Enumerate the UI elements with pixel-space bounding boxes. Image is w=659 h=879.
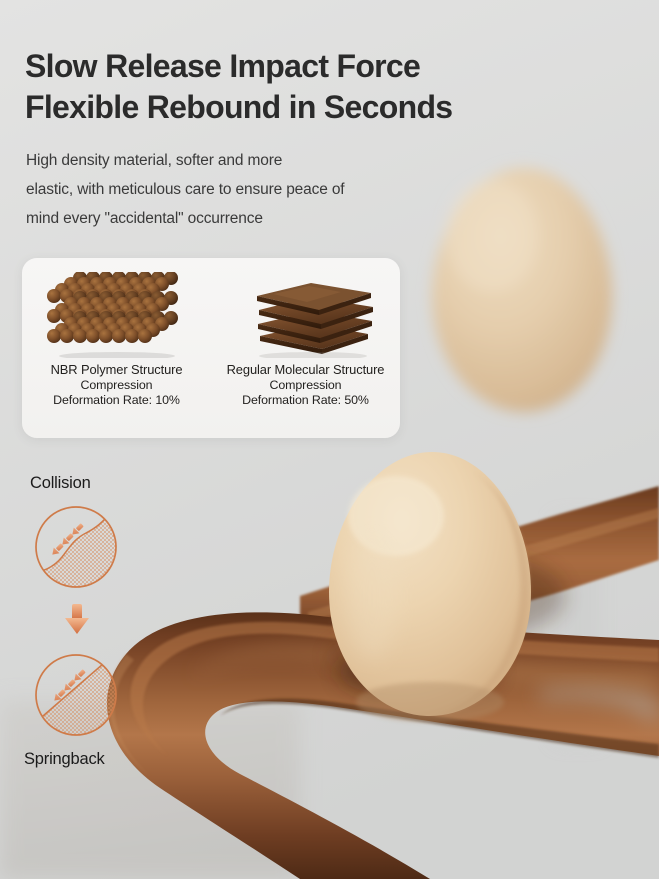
regular-metric-label: Compression — [227, 378, 385, 394]
subtitle-line-2: elastic, with meticulous care to ensure … — [26, 175, 344, 204]
comparison-column-regular: Regular Molecular Structure Compression … — [211, 258, 400, 438]
nbr-metric-value: Deformation Rate: 10% — [51, 393, 183, 409]
springback-flat-icon — [28, 647, 174, 748]
nbr-caption: NBR Polymer Structure Compression Deform… — [51, 362, 183, 409]
nbr-metric-label: Compression — [51, 378, 183, 394]
nbr-title: NBR Polymer Structure — [51, 362, 183, 378]
collision-dent-icon — [28, 499, 174, 600]
rebound-diagram: Collision — [24, 474, 174, 769]
headline-line-1: Slow Release Impact Force — [25, 46, 452, 87]
subtitle-paragraph: High density material, softer and more e… — [26, 146, 344, 233]
regular-title: Regular Molecular Structure — [227, 362, 385, 378]
page-title: Slow Release Impact Force Flexible Rebou… — [25, 46, 452, 128]
nbr-polymer-sphere-lattice-icon — [22, 272, 211, 358]
headline-line-2: Flexible Rebound in Seconds — [25, 87, 452, 128]
down-arrow-icon — [62, 602, 174, 641]
subtitle-line-3: mind every "accidental" occurrence — [26, 204, 344, 233]
regular-caption: Regular Molecular Structure Compression … — [227, 362, 385, 409]
regular-molecular-plate-stack-icon — [211, 272, 400, 358]
regular-metric-value: Deformation Rate: 50% — [227, 393, 385, 409]
collision-label: Collision — [30, 474, 174, 493]
subtitle-line-1: High density material, softer and more — [26, 146, 344, 175]
structure-comparison-card: NBR Polymer Structure Compression Deform… — [22, 258, 400, 438]
infographic-root: Slow Release Impact Force Flexible Rebou… — [0, 0, 659, 879]
comparison-column-nbr: NBR Polymer Structure Compression Deform… — [22, 258, 211, 438]
springback-label: Springback — [24, 750, 174, 769]
